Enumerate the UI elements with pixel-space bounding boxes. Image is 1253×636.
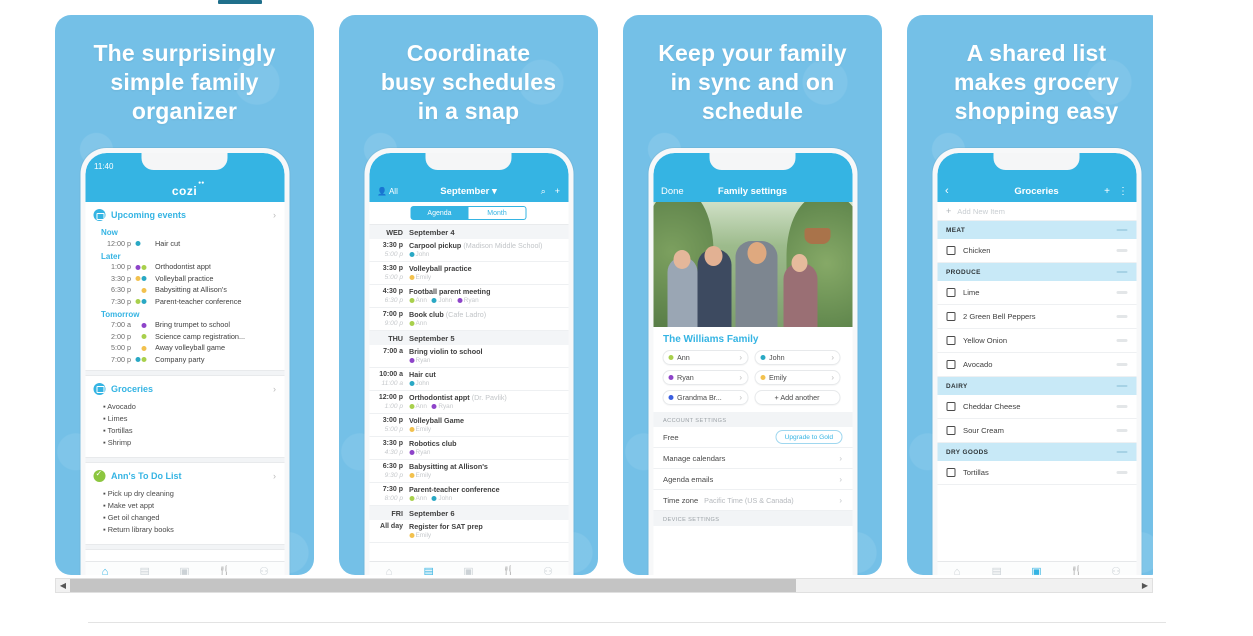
checkbox[interactable] bbox=[946, 312, 955, 321]
chevron-right-icon: › bbox=[739, 393, 742, 402]
category-header-dairy: DAIRY bbox=[937, 377, 1136, 395]
groceries-list: Avocado Limes Tortillas Shrimp bbox=[85, 400, 284, 453]
time-zone-value: Pacific Time (US & Canada) bbox=[704, 496, 833, 505]
month-label: September bbox=[440, 186, 489, 197]
calendar-content: Agenda Month WED September 4 3:30 p5:00 … bbox=[369, 202, 568, 575]
add-new-item-row[interactable]: + Add New Item bbox=[937, 202, 1136, 221]
event-row[interactable]: 2:00 p Science camp registration... bbox=[85, 331, 284, 343]
attendees: Emily bbox=[409, 425, 562, 434]
filter-all-label: All bbox=[389, 187, 398, 196]
gallery-card-family[interactable]: Keep your family in sync and on schedule… bbox=[623, 15, 882, 575]
tab-bar: ⌂Home ▤Calendar ▣Lists 🍴Recipes ⚇Family bbox=[937, 561, 1136, 575]
phone-notch bbox=[426, 153, 512, 170]
event-time: 12:00 p bbox=[101, 239, 131, 250]
event-times: 3:30 p4:30 p bbox=[377, 439, 403, 457]
drag-handle-icon[interactable] bbox=[1116, 271, 1127, 274]
tab-bar: ⌂Home ▤Calendar ▣Lists 🍴Recipes ⚇Family bbox=[85, 561, 284, 575]
event-name: Company party bbox=[155, 355, 204, 366]
chevron-right-icon: › bbox=[839, 496, 842, 505]
event-title: Carpool pickup (Madison Middle School) bbox=[409, 241, 542, 250]
checkbox[interactable] bbox=[946, 426, 955, 435]
attendees: Emily bbox=[409, 471, 562, 480]
event-title: Bring violin to school bbox=[409, 347, 482, 356]
tab-home[interactable]: ⌂Home bbox=[369, 566, 409, 576]
event-title: Register for SAT prep bbox=[409, 522, 483, 531]
utensils-icon: 🍴 bbox=[204, 566, 244, 576]
home-icon: ⌂ bbox=[369, 566, 409, 576]
event-times: 7:30 p8:00 p bbox=[377, 485, 403, 503]
item-label: Yellow Onion bbox=[963, 336, 1007, 345]
card-headline: Keep your family in sync and on schedule bbox=[637, 39, 868, 126]
row-agenda-emails[interactable]: Agenda emails › bbox=[653, 469, 852, 490]
weekday: WED bbox=[377, 228, 403, 237]
calendar-icon: ▤ bbox=[409, 566, 449, 576]
event-title: Hair cut bbox=[409, 370, 436, 379]
cozi-logo: cozi ●● bbox=[93, 184, 276, 198]
app-navbar: ‹ Groceries + ⋮ bbox=[937, 180, 1136, 202]
drag-handle-icon[interactable] bbox=[1116, 471, 1127, 474]
agenda-row[interactable]: All day Register for SAT prep Emily bbox=[369, 520, 568, 543]
section-title: Ann's To Do List bbox=[111, 471, 267, 481]
tab-home[interactable]: ⌂Home bbox=[85, 566, 125, 576]
phone-mock-calendar: 👤All September ▾ ⌕ + Agenda Month bbox=[364, 148, 573, 575]
date: September 5 bbox=[409, 334, 455, 343]
phone-notch bbox=[142, 153, 228, 170]
gallery-card-calendar[interactable]: Coordinate busy schedules in a snap 👤All… bbox=[339, 15, 598, 575]
calendar-icon: ▤ bbox=[977, 566, 1017, 576]
section-header-upcoming-events[interactable]: Upcoming events › bbox=[85, 202, 284, 226]
attendees: Ann John Ryan bbox=[409, 296, 562, 305]
event-name: Volleyball practice bbox=[155, 274, 213, 285]
agenda-row[interactable]: 7:30 p8:00 p Parent-teacher conference A… bbox=[369, 483, 568, 506]
device-settings-header: DEVICE SETTINGS bbox=[653, 511, 852, 526]
scrollbar-thumb[interactable] bbox=[70, 579, 796, 592]
scrollbar-track[interactable] bbox=[70, 579, 1138, 592]
date: September 4 bbox=[409, 228, 455, 237]
clipboard-icon: ▣ bbox=[165, 566, 205, 576]
row-free-plan: Free Upgrade to Gold bbox=[653, 427, 852, 448]
chevron-right-icon: › bbox=[739, 353, 742, 362]
chevron-right-icon: › bbox=[831, 373, 834, 382]
event-name: Orthodontist appt bbox=[155, 262, 211, 273]
gallery-card-groceries[interactable]: A shared list makes grocery shopping eas… bbox=[907, 15, 1153, 575]
list-icon bbox=[93, 383, 105, 395]
day-header: FRI September 6 bbox=[369, 506, 568, 520]
attendees: Ann bbox=[409, 319, 562, 328]
cozi-logo-dots: ●● bbox=[198, 180, 204, 186]
drag-handle-icon[interactable] bbox=[1116, 315, 1127, 318]
status-time: 11:40 bbox=[94, 162, 113, 171]
event-name: Bring trumpet to school bbox=[155, 320, 230, 331]
attendees: Ann Ryan bbox=[409, 402, 562, 411]
event-times: 7:00 p9:00 p bbox=[377, 310, 403, 328]
segment-agenda[interactable]: Agenda bbox=[411, 206, 469, 220]
event-time: 7:00 p bbox=[101, 355, 131, 366]
screenshot-gallery: The surprisingly simple family organizer… bbox=[55, 15, 1153, 575]
chevron-right-icon[interactable]: › bbox=[273, 210, 276, 220]
item-label: Cheddar Cheese bbox=[963, 402, 1020, 411]
event-row[interactable]: 5:00 p Away volleyball game bbox=[85, 343, 284, 355]
attendee-dots bbox=[135, 241, 151, 246]
cozi-logo-text: cozi bbox=[172, 184, 197, 198]
done-button[interactable]: Done bbox=[661, 186, 684, 197]
member-emily[interactable]: Emily› bbox=[754, 370, 840, 385]
tab-recipes[interactable]: 🍴Recipes bbox=[204, 566, 244, 576]
chevron-down-icon: ▾ bbox=[492, 186, 497, 197]
item-label: 2 Green Bell Peppers bbox=[963, 312, 1036, 321]
list-item[interactable]: Return library books bbox=[103, 524, 276, 536]
list-item[interactable]: Tortillas bbox=[937, 461, 1136, 485]
drag-handle-icon[interactable] bbox=[1116, 229, 1127, 232]
tab-home[interactable]: ⌂Home bbox=[937, 566, 977, 576]
section-title: Groceries bbox=[111, 384, 267, 394]
status-bar: 11:40 bbox=[85, 153, 284, 180]
member-john[interactable]: John› bbox=[754, 350, 840, 365]
weekday: FRI bbox=[377, 509, 403, 518]
check-circle-icon bbox=[93, 470, 105, 482]
event-name: Babysitting at Allison's bbox=[155, 285, 227, 296]
tab-family[interactable]: ⚇Family bbox=[1096, 566, 1136, 576]
row-label: Time zone bbox=[663, 496, 698, 505]
section-divider bbox=[85, 544, 284, 550]
app-navbar: 👤All September ▾ ⌕ + bbox=[369, 180, 568, 202]
tab-calendar[interactable]: ▤Calendar bbox=[409, 566, 449, 576]
list-item[interactable]: 2 Green Bell Peppers bbox=[937, 305, 1136, 329]
upgrade-to-gold-button[interactable]: Upgrade to Gold bbox=[776, 430, 842, 444]
event-times: All day bbox=[377, 522, 403, 540]
attendee-dots bbox=[135, 357, 151, 362]
list-item[interactable]: Avocado bbox=[103, 401, 276, 413]
card-headline: The surprisingly simple family organizer bbox=[69, 39, 300, 126]
drag-handle-icon[interactable] bbox=[1116, 339, 1127, 342]
event-row[interactable]: 7:00 a Bring trumpet to school bbox=[85, 320, 284, 332]
event-name: Hair cut bbox=[155, 239, 180, 250]
event-times: 12:00 p1:00 p bbox=[377, 393, 403, 411]
day-label-tomorrow: Tomorrow bbox=[85, 308, 284, 320]
scroll-left-arrow[interactable]: ◀ bbox=[56, 581, 70, 590]
clipboard-icon: ▣ bbox=[1017, 566, 1057, 576]
row-label: Agenda emails bbox=[663, 475, 713, 484]
family-photo bbox=[653, 202, 852, 327]
horizontal-scrollbar[interactable]: ◀ ▶ bbox=[55, 578, 1153, 593]
page-top-link-stub bbox=[218, 0, 262, 4]
chevron-right-icon: › bbox=[739, 373, 742, 382]
list-item[interactable]: Tortillas bbox=[103, 425, 276, 437]
list-item[interactable]: Get oil changed bbox=[103, 512, 276, 524]
event-time: 5:00 p bbox=[101, 343, 131, 354]
checkbox[interactable] bbox=[946, 246, 955, 255]
status-bar bbox=[369, 153, 568, 180]
plus-icon[interactable]: + bbox=[555, 186, 560, 197]
utensils-icon: 🍴 bbox=[488, 566, 528, 576]
drag-handle-icon[interactable] bbox=[1116, 363, 1127, 366]
agenda-row[interactable]: 7:00 a Bring violin to school Ryan bbox=[369, 345, 568, 368]
agenda-row[interactable]: 3:30 p5:00 p Volleyball practice Emily bbox=[369, 262, 568, 285]
row-manage-calendars[interactable]: Manage calendars › bbox=[653, 448, 852, 469]
event-time: 1:00 p bbox=[101, 262, 131, 273]
event-title: Parent-teacher conference bbox=[409, 485, 500, 494]
member-ann[interactable]: Ann› bbox=[662, 350, 748, 365]
plus-icon: + bbox=[946, 206, 951, 216]
event-title: Babysitting at Allison's bbox=[409, 462, 488, 471]
agenda-row[interactable]: 12:00 p1:00 p Orthodontist appt (Dr. Pav… bbox=[369, 391, 568, 414]
tab-lists[interactable]: ▣Lists bbox=[1017, 566, 1057, 576]
row-time-zone[interactable]: Time zone Pacific Time (US & Canada) › bbox=[653, 490, 852, 511]
tab-calendar[interactable]: ▤Calendar bbox=[977, 566, 1017, 576]
list-item[interactable]: Shrimp bbox=[103, 437, 276, 449]
attendee-dots bbox=[135, 299, 151, 304]
agenda-row[interactable]: 3:30 p5:00 p Carpool pickup (Madison Mid… bbox=[369, 239, 568, 262]
app-navbar: cozi ●● bbox=[85, 180, 284, 202]
groceries-content: + Add New Item MEAT Chicken PRODUCE Lime… bbox=[937, 202, 1136, 575]
agenda-row[interactable]: 3:30 p4:30 p Robotics club Ryan bbox=[369, 437, 568, 460]
search-icon[interactable]: ⌕ bbox=[541, 186, 546, 197]
tab-calendar[interactable]: ▤Calendar bbox=[125, 566, 165, 576]
attendees: Emily bbox=[409, 531, 562, 540]
chevron-right-icon[interactable]: › bbox=[273, 471, 276, 481]
event-row[interactable]: 7:00 p Company party bbox=[85, 354, 284, 366]
attendee-dots bbox=[135, 276, 151, 281]
phone-mock-family: Done Family settings bbox=[648, 148, 857, 575]
calendar-icon bbox=[93, 209, 105, 221]
event-title: Volleyball Game bbox=[409, 416, 464, 425]
more-vertical-icon[interactable]: ⋮ bbox=[1118, 186, 1128, 197]
category-header-meat: MEAT bbox=[937, 221, 1136, 239]
event-title: Robotics club bbox=[409, 439, 457, 448]
attendees: John bbox=[409, 250, 562, 259]
attendees: Ryan bbox=[409, 448, 562, 457]
todo-list: Pick up dry cleaning Make vet appt Get o… bbox=[85, 487, 284, 540]
event-title: Orthodontist appt (Dr. Pavlik) bbox=[409, 393, 507, 402]
chevron-right-icon[interactable]: › bbox=[273, 384, 276, 394]
event-times: 7:00 a bbox=[377, 347, 403, 365]
list-item[interactable]: Chicken bbox=[937, 239, 1136, 263]
event-times: 3:30 p5:00 p bbox=[377, 241, 403, 259]
family-members-grid: Ann› John› Ryan› Emily› Grandma Br...› +… bbox=[653, 350, 852, 412]
family-icon: ⚇ bbox=[1096, 566, 1136, 576]
attendee-dots bbox=[135, 288, 151, 293]
date: September 6 bbox=[409, 509, 455, 518]
utensils-icon: 🍴 bbox=[1056, 566, 1096, 576]
drag-handle-icon[interactable] bbox=[1116, 249, 1127, 252]
item-label: Chicken bbox=[963, 246, 990, 255]
day-label-now: Now bbox=[85, 226, 284, 238]
event-row[interactable]: 1:00 p Orthodontist appt bbox=[85, 262, 284, 274]
member-ryan[interactable]: Ryan› bbox=[662, 370, 748, 385]
phone-mock-home: 11:40 cozi ●● Upcoming events bbox=[80, 148, 289, 575]
phone-notch bbox=[710, 153, 796, 170]
navbar-title[interactable]: September ▾ bbox=[369, 186, 568, 197]
view-segmented-control: Agenda Month bbox=[369, 202, 568, 225]
status-bar bbox=[653, 153, 852, 180]
family-content: The Williams Family Ann› John› Ryan› Emi… bbox=[653, 202, 852, 575]
event-time: 6:30 p bbox=[101, 285, 131, 296]
attendee-dots bbox=[135, 323, 151, 328]
event-name: Science camp registration... bbox=[155, 332, 245, 343]
event-time: 2:00 p bbox=[101, 332, 131, 343]
drag-handle-icon[interactable] bbox=[1116, 291, 1127, 294]
list-item[interactable]: Avocado bbox=[937, 353, 1136, 377]
footer-divider bbox=[88, 622, 1166, 623]
drag-handle-icon[interactable] bbox=[1116, 451, 1127, 454]
attendees: Emily bbox=[409, 273, 562, 282]
checkbox[interactable] bbox=[946, 288, 955, 297]
card-headline: A shared list makes grocery shopping eas… bbox=[921, 39, 1152, 126]
chevron-right-icon: › bbox=[831, 353, 834, 362]
event-title: Football parent meeting bbox=[409, 287, 490, 296]
plan-label: Free bbox=[663, 433, 679, 442]
list-item[interactable]: Cheddar Cheese bbox=[937, 395, 1136, 419]
event-time: 3:30 p bbox=[101, 274, 131, 285]
event-title: Volleyball practice bbox=[409, 264, 472, 273]
list-item[interactable]: Pick up dry cleaning bbox=[103, 488, 276, 500]
member-grandma[interactable]: Grandma Br...› bbox=[662, 390, 748, 405]
tab-recipes[interactable]: 🍴Recipes bbox=[488, 566, 528, 576]
checkbox[interactable] bbox=[946, 360, 955, 369]
scroll-right-arrow[interactable]: ▶ bbox=[1138, 581, 1152, 590]
list-item[interactable]: Sour Cream bbox=[937, 419, 1136, 443]
add-another-button[interactable]: + Add another bbox=[754, 390, 840, 405]
event-times: 3:30 p5:00 p bbox=[377, 264, 403, 282]
status-bar bbox=[937, 153, 1136, 180]
list-item[interactable]: Lime bbox=[937, 281, 1136, 305]
list-item[interactable]: Make vet appt bbox=[103, 500, 276, 512]
phone-notch bbox=[994, 153, 1080, 170]
event-times: 10:00 a11:00 a bbox=[377, 370, 403, 388]
event-time: 7:00 a bbox=[101, 320, 131, 331]
account-settings-header: ACCOUNT SETTINGS bbox=[653, 412, 852, 427]
event-row[interactable]: 3:30 p Volleyball practice bbox=[85, 273, 284, 285]
list-item[interactable]: Yellow Onion bbox=[937, 329, 1136, 353]
item-label: Lime bbox=[963, 288, 979, 297]
agenda-row[interactable]: 10:00 a11:00 a Hair cut John bbox=[369, 368, 568, 391]
category-header-dry-goods: DRY GOODS bbox=[937, 443, 1136, 461]
agenda-row[interactable]: 6:30 p9:30 p Babysitting at Allison's Em… bbox=[369, 460, 568, 483]
clipboard-icon: ▣ bbox=[449, 566, 489, 576]
attendee-dots bbox=[135, 334, 151, 339]
weekday: THU bbox=[377, 334, 403, 343]
family-icon: ⚇ bbox=[528, 566, 568, 576]
segment-month[interactable]: Month bbox=[469, 206, 527, 220]
row-label: Manage calendars bbox=[663, 454, 725, 463]
home-icon: ⌂ bbox=[85, 566, 125, 576]
tab-family[interactable]: ⚇Family bbox=[244, 566, 284, 576]
agenda-row[interactable]: 7:00 p9:00 p Book club (Cafe Ladro) Ann bbox=[369, 308, 568, 331]
plus-icon[interactable]: + bbox=[1104, 186, 1110, 197]
day-label-later: Later bbox=[85, 250, 284, 262]
chevron-right-icon: › bbox=[839, 454, 842, 463]
drag-handle-icon[interactable] bbox=[1116, 429, 1127, 432]
category-header-produce: PRODUCE bbox=[937, 263, 1136, 281]
attendees: Ann John bbox=[409, 494, 562, 503]
person-icon: 👤 bbox=[377, 187, 387, 196]
item-label: Sour Cream bbox=[963, 426, 1004, 435]
drag-handle-icon[interactable] bbox=[1116, 385, 1127, 388]
chevron-right-icon: › bbox=[839, 475, 842, 484]
chevron-left-icon[interactable]: ‹ bbox=[945, 185, 949, 197]
family-name: The Williams Family bbox=[653, 327, 852, 350]
tab-lists[interactable]: ▣Lists bbox=[449, 566, 489, 576]
section-header-groceries[interactable]: Groceries › bbox=[85, 376, 284, 400]
attendee-dots bbox=[135, 346, 151, 351]
item-label: Tortillas bbox=[963, 468, 989, 477]
event-times: 4:30 p6:30 p bbox=[377, 287, 403, 305]
day-header: WED September 4 bbox=[369, 225, 568, 239]
list-item[interactable]: Limes bbox=[103, 413, 276, 425]
attendees: Ryan bbox=[409, 356, 562, 365]
screenshot-root: The surprisingly simple family organizer… bbox=[0, 0, 1253, 636]
attendee-dots bbox=[135, 265, 151, 270]
checkbox[interactable] bbox=[946, 402, 955, 411]
calendar-icon: ▤ bbox=[125, 566, 165, 576]
attendees: John bbox=[409, 379, 562, 388]
add-new-item-placeholder: Add New Item bbox=[957, 207, 1005, 216]
checkbox[interactable] bbox=[946, 468, 955, 477]
tab-bar: ⌂Home ▤Calendar ▣Lists 🍴Recipes ⚇Family bbox=[369, 561, 568, 575]
home-content: Upcoming events › Now 12:00 p Hair cut L… bbox=[85, 202, 284, 575]
event-times: 3:00 p5:00 p bbox=[377, 416, 403, 434]
app-navbar: Done Family settings bbox=[653, 180, 852, 202]
phone-mock-groceries: ‹ Groceries + ⋮ + Add New Item MEAT bbox=[932, 148, 1141, 575]
card-headline: Coordinate busy schedules in a snap bbox=[353, 39, 584, 126]
section-header-todo[interactable]: Ann's To Do List › bbox=[85, 463, 284, 487]
event-times: 6:30 p9:30 p bbox=[377, 462, 403, 480]
home-icon: ⌂ bbox=[937, 566, 977, 576]
tab-lists[interactable]: ▣Lists bbox=[165, 566, 205, 576]
section-title: Upcoming events bbox=[111, 210, 267, 220]
filter-all-button[interactable]: 👤All bbox=[377, 187, 398, 196]
event-row[interactable]: 6:30 p Babysitting at Allison's bbox=[85, 285, 284, 297]
item-label: Avocado bbox=[963, 360, 992, 369]
drag-handle-icon[interactable] bbox=[1116, 405, 1127, 408]
event-time: 7:30 p bbox=[101, 297, 131, 308]
event-title: Book club (Cafe Ladro) bbox=[409, 310, 486, 319]
agenda-row[interactable]: 4:30 p6:30 p Football parent meeting Ann… bbox=[369, 285, 568, 308]
tab-recipes[interactable]: 🍴Recipes bbox=[1056, 566, 1096, 576]
tab-family[interactable]: ⚇Family bbox=[528, 566, 568, 576]
family-icon: ⚇ bbox=[244, 566, 284, 576]
event-name: Away volleyball game bbox=[155, 343, 225, 354]
event-row[interactable]: 12:00 p Hair cut bbox=[85, 238, 284, 250]
agenda-row[interactable]: 3:00 p5:00 p Volleyball Game Emily bbox=[369, 414, 568, 437]
event-row[interactable]: 7:30 p Parent-teacher conference bbox=[85, 296, 284, 308]
event-name: Parent-teacher conference bbox=[155, 297, 241, 308]
gallery-card-home[interactable]: The surprisingly simple family organizer… bbox=[55, 15, 314, 575]
checkbox[interactable] bbox=[946, 336, 955, 345]
day-header: THU September 5 bbox=[369, 331, 568, 345]
